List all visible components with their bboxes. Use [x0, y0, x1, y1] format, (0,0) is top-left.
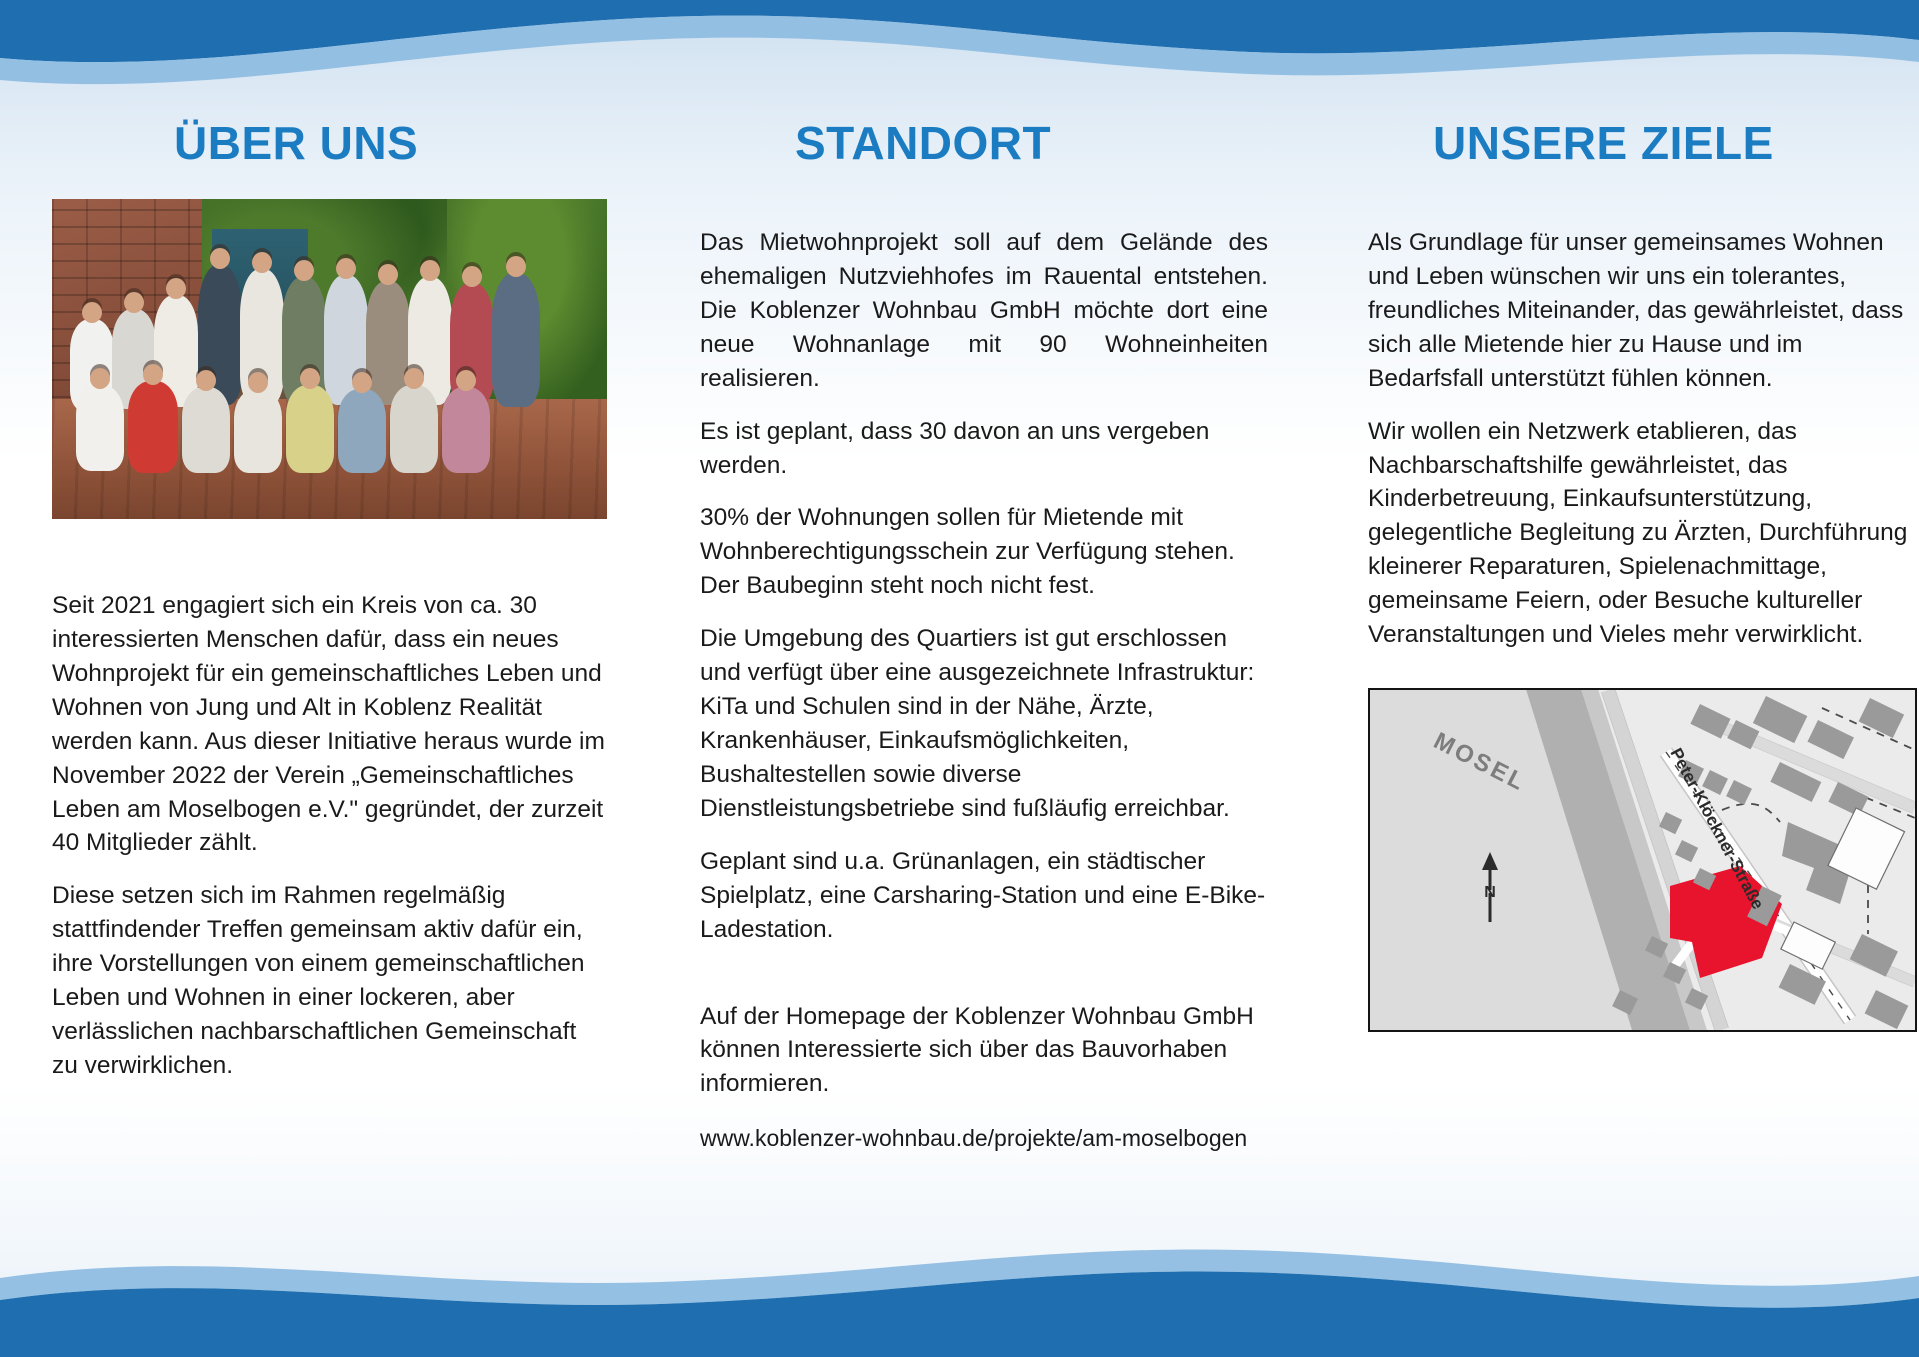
- map-north-label: N: [1484, 884, 1496, 901]
- paragraph-standort-1: Das Mietwohnprojekt soll auf dem Gelände…: [700, 226, 1268, 396]
- paragraph-standort-2: Es ist geplant, dass 30 davon an uns ver…: [700, 415, 1268, 483]
- location-map-svg: N MOSEL Peter-Klöckner-Straße: [1370, 690, 1915, 1030]
- content-columns: ÜBER UNS: [0, 0, 1919, 1357]
- section-title-unsere-ziele: UNSERE ZIELE: [1368, 120, 1913, 166]
- paragraph-ziele-1: Als Grundlage für unser gemeinsames Wohn…: [1368, 226, 1913, 396]
- standort-website-url[interactable]: www.koblenzer-wohnbau.de/projekte/am-mos…: [700, 1123, 1268, 1154]
- bottom-wave-svg: [0, 1232, 1919, 1357]
- paragraph-standort-5: Geplant sind u.a. Grünanlagen, ein städt…: [700, 845, 1268, 947]
- bottom-wave-decoration: [0, 1232, 1919, 1357]
- top-wave-decoration: [0, 0, 1919, 110]
- section-title-standort: STANDORT: [700, 120, 1268, 166]
- paragraph-ueber-uns-2: Diese setzen sich im Rahmen regelmäßig s…: [52, 879, 607, 1083]
- paragraph-ziele-2: Wir wollen ein Netzwerk etablieren, das …: [1368, 415, 1913, 652]
- group-photo: [52, 199, 607, 519]
- section-title-ueber-uns: ÜBER UNS: [52, 120, 607, 166]
- paragraph-ueber-uns-1: Seit 2021 engagiert sich ein Kreis von c…: [52, 589, 607, 860]
- paragraph-standort-3: 30% der Wohnungen sollen für Mietende mi…: [700, 501, 1268, 603]
- location-map: N MOSEL Peter-Klöckner-Straße: [1368, 688, 1917, 1032]
- section-ueber-uns: ÜBER UNS: [52, 120, 607, 1083]
- paragraph-standort-homepage: Auf der Homepage der Koblenzer Wohnbau G…: [700, 1000, 1268, 1102]
- paragraph-standort-4: Die Umgebung des Quartiers ist gut ersch…: [700, 622, 1268, 826]
- section-unsere-ziele: UNSERE ZIELE Als Grundlage für unser gem…: [1368, 120, 1913, 1032]
- photo-people-group: [52, 199, 607, 519]
- section-standort: STANDORT Das Mietwohnprojekt soll auf de…: [700, 120, 1268, 1154]
- top-wave-svg: [0, 0, 1919, 110]
